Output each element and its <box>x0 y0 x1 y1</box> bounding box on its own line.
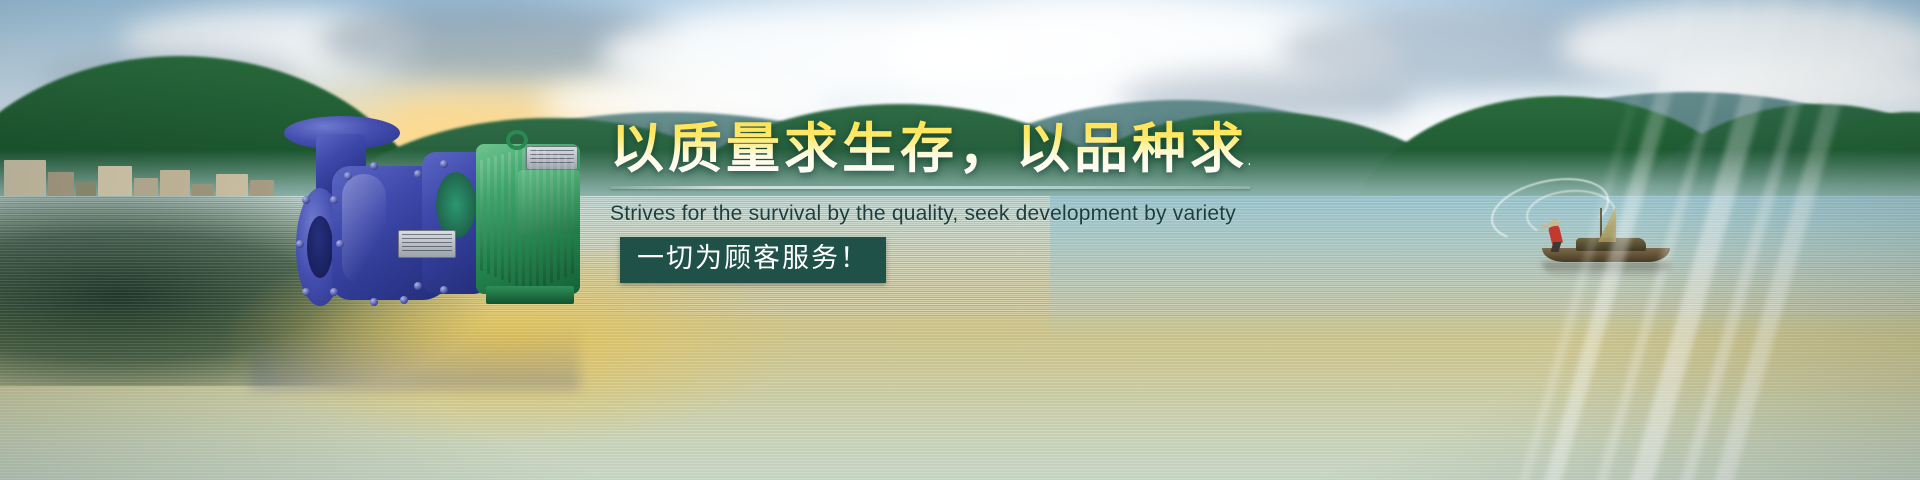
motor-fin <box>550 152 553 283</box>
centrifugal-pump-product <box>250 100 580 305</box>
pump-suction-bore <box>307 216 333 278</box>
motor-fin <box>529 146 532 292</box>
motor-fin <box>487 158 490 274</box>
flange-bolt <box>414 170 422 178</box>
flange-bolt <box>400 296 408 304</box>
flange-bolt <box>302 196 310 204</box>
motor-fin <box>522 148 525 289</box>
banner-headline: 以质量求生存，以品种求发展 <box>610 118 1250 180</box>
motor-fin <box>543 150 546 286</box>
headline-divider <box>610 186 1250 189</box>
banner-text-block: 以质量求生存，以品种求发展 Strives for the survival b… <box>610 118 1250 283</box>
flange-bolt <box>344 172 352 180</box>
pump-casing-highlight <box>342 174 386 286</box>
motor-fin <box>480 160 483 271</box>
flange-bolt <box>370 162 378 170</box>
hero-banner: 以质量求生存，以品种求发展 Strives for the survival b… <box>0 0 1920 480</box>
motor-fin <box>571 158 574 274</box>
motor-base-foot <box>486 286 574 304</box>
pump-water-reflection <box>250 300 580 390</box>
pump-nameplate <box>398 230 456 258</box>
flange-bolt <box>302 288 310 296</box>
banner-subtitle: Strives for the survival by the quality,… <box>610 202 1250 226</box>
coupling-window <box>436 172 476 238</box>
motor-fin <box>557 154 560 280</box>
flange-bolt <box>330 196 338 204</box>
motor-fin <box>536 148 539 289</box>
boat-reflection <box>1542 262 1670 278</box>
flange-bolt <box>440 160 448 168</box>
motor-fin <box>564 156 567 277</box>
motor-fin <box>494 156 497 277</box>
motor-lifting-eye <box>506 130 528 150</box>
motor-fin <box>501 154 504 280</box>
flange-bolt <box>414 282 422 290</box>
flange-bolt <box>330 288 338 296</box>
service-slogan-badge: 一切为顾客服务！ <box>620 237 886 283</box>
fisherman-boat <box>1480 180 1760 300</box>
flange-bolt <box>296 240 304 248</box>
flange-bolt <box>440 286 448 294</box>
flange-bolt <box>336 240 344 248</box>
motor-fin <box>515 150 518 286</box>
motor-fin <box>508 152 511 283</box>
flange-bolt <box>370 298 378 306</box>
